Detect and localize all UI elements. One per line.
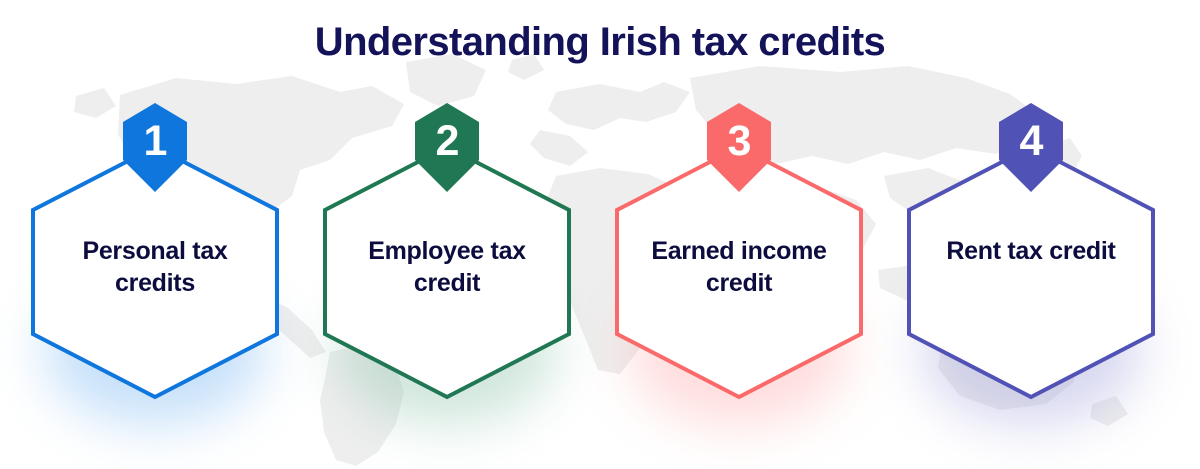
page-title: Understanding Irish tax credits	[0, 20, 1200, 64]
infographic-canvas: Understanding Irish tax credits 1 Person…	[0, 0, 1200, 469]
steps-row: 1 Personal tax credits 2 Employee tax cr…	[0, 0, 1200, 469]
step-number-2: 2	[414, 102, 480, 180]
step-number-3: 3	[706, 102, 772, 180]
step-label-3: Earned income credit	[627, 235, 851, 299]
step-badge-1: 1	[122, 102, 188, 194]
step-label-2: Employee tax credit	[335, 235, 559, 299]
step-label-1: Personal tax credits	[43, 235, 267, 299]
step-card-1[interactable]: 1 Personal tax credits	[29, 100, 281, 420]
step-card-4[interactable]: 4 Rent tax credit	[905, 100, 1157, 420]
step-badge-2: 2	[414, 102, 480, 194]
step-number-1: 1	[122, 102, 188, 180]
step-badge-3: 3	[706, 102, 772, 194]
step-card-3[interactable]: 3 Earned income credit	[613, 100, 865, 420]
step-number-4: 4	[998, 102, 1064, 180]
step-label-4: Rent tax credit	[919, 235, 1143, 267]
step-badge-4: 4	[998, 102, 1064, 194]
step-card-2[interactable]: 2 Employee tax credit	[321, 100, 573, 420]
